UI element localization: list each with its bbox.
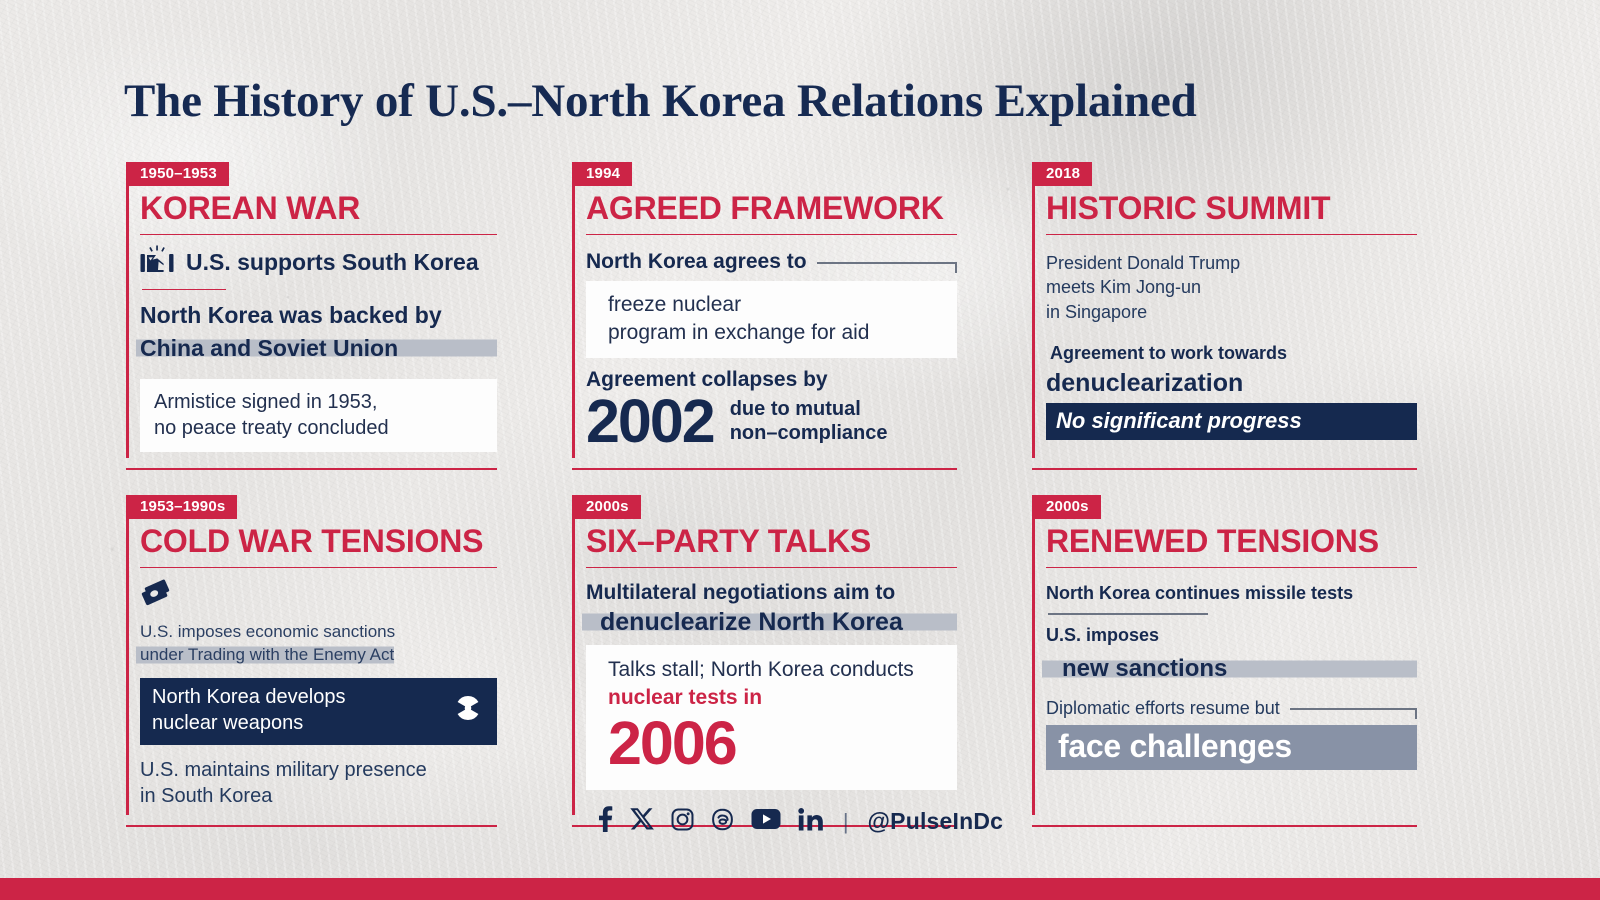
closing-line-2: in South Korea: [140, 783, 497, 809]
page-title: The History of U.S.–North Korea Relation…: [124, 74, 1197, 128]
card-cold-war-tensions: 1953–1990s COLD WAR TENSIONS U.S. impose…: [126, 495, 497, 828]
card-historic-summit: 2018 HISTORIC SUMMIT President Donald Tr…: [1032, 162, 1417, 472]
sanctions-line-1: U.S. imposes economic sanctions: [140, 621, 497, 643]
divider: [142, 289, 226, 290]
card-title: AGREED FRAMEWORK: [586, 192, 957, 226]
connector-line: [1290, 708, 1417, 709]
card-title: COLD WAR TENSIONS: [140, 525, 497, 559]
card-left-rule: [572, 172, 575, 458]
x-twitter-icon[interactable]: [630, 807, 654, 836]
radiation-icon: [451, 691, 485, 730]
handshake-icon: [140, 245, 174, 280]
card-bottom-rule: [126, 468, 497, 470]
card-title: RENEWED TENSIONS: [1046, 525, 1417, 559]
bottom-accent-bar: [0, 878, 1600, 900]
lead-label: Multilateral negotiations aim to: [586, 580, 957, 606]
card-left-rule: [572, 505, 575, 814]
card-renewed-tensions: 2000s RENEWED TENSIONS North Korea conti…: [1032, 495, 1417, 828]
linkedin-icon[interactable]: [798, 808, 824, 836]
callout-line-1: Talks stall; North Korea conducts: [608, 656, 945, 684]
social-handle[interactable]: @PulseInDc: [868, 808, 1004, 835]
white-callout: freeze nuclear program in exchange for a…: [586, 281, 957, 357]
card-badge-year: 2000s: [1032, 495, 1101, 519]
callout-line-2: no peace treaty concluded: [154, 415, 485, 441]
lead-label: North Korea agrees to: [586, 249, 807, 275]
card-agreed-framework: 1994 AGREED FRAMEWORK North Korea agrees…: [572, 162, 957, 472]
sanctions-line-2: under Trading with the Enemy Act: [140, 645, 394, 664]
agreement-key: denuclearization: [1046, 368, 1417, 399]
callout-red-line: nuclear tests in: [608, 684, 945, 712]
card-title: SIX–PARTY TALKS: [586, 525, 957, 559]
card-left-rule: [1032, 505, 1035, 814]
fact-line-3: Diplomatic efforts resume but: [1046, 697, 1280, 720]
connector-line: [817, 262, 957, 263]
key-phrase-wrap: denuclearize North Korea: [586, 607, 957, 638]
footer-social-bar: | @PulseInDc: [0, 806, 1600, 837]
highlight-wrap: new sanctions: [1046, 654, 1417, 684]
footer-separator: |: [843, 809, 849, 835]
threads-icon[interactable]: [711, 808, 734, 836]
infographic-root: The History of U.S.–North Korea Relation…: [0, 0, 1600, 900]
card-badge-year: 1953–1990s: [126, 495, 237, 519]
card-title: KOREAN WAR: [140, 192, 497, 226]
navy-line-2: nuclear weapons: [152, 711, 345, 737]
navy-line-1: North Korea develops: [152, 685, 345, 711]
white-callout: Armistice signed in 1953, no peace treat…: [140, 379, 497, 453]
callout-line-1: Armistice signed in 1953,: [154, 389, 485, 415]
card-badge-year: 1950–1953: [126, 162, 229, 186]
summary-paragraph: President Donald Trump meets Kim Jong-un…: [1046, 251, 1417, 324]
instagram-icon[interactable]: [671, 808, 694, 836]
card-badge-year: 2000s: [572, 495, 641, 519]
timeline-grid: 1950–1953 KOREAN WAR: [126, 162, 1474, 829]
fact-line-2: U.S. imposes: [1046, 624, 1417, 648]
sanctions-line-2-wrap: under Trading with the Enemy Act: [140, 644, 394, 666]
facebook-icon[interactable]: [597, 806, 613, 837]
summary-line-1: President Donald Trump: [1046, 251, 1417, 275]
card-bottom-rule: [572, 468, 957, 470]
fact-line-2: China and Soviet Union: [140, 335, 398, 361]
key-phrase: denuclearize North Korea: [600, 608, 903, 636]
summary-line-2: meets Kim Jong-un: [1046, 275, 1417, 299]
reason-line-1: due to mutual: [730, 398, 888, 422]
card-six-party-talks: 2000s SIX–PARTY TALKS Multilateral negot…: [572, 495, 957, 828]
result-banner: No significant progress: [1046, 403, 1417, 440]
card-badge-year: 1994: [572, 162, 632, 186]
reason-block: due to mutual non–compliance: [730, 398, 888, 445]
collapse-year: 2002: [586, 391, 714, 452]
diplomatic-row: Diplomatic efforts resume but: [1046, 697, 1417, 720]
card-left-rule: [1032, 172, 1035, 458]
white-callout: Talks stall; North Korea conducts nuclea…: [586, 645, 957, 790]
year-row: 2002 due to mutual non–compliance: [586, 391, 957, 452]
summary-line-3: in Singapore: [1046, 300, 1417, 324]
lead-row: North Korea agrees to: [586, 249, 957, 275]
card-left-rule: [126, 172, 129, 458]
fact-line-2-wrap: China and Soviet Union: [140, 334, 497, 363]
test-year: 2006: [608, 713, 945, 774]
fact-line-1: North Korea was backed by: [140, 301, 497, 330]
result-banner: face challenges: [1046, 725, 1417, 770]
icon-fact-label: U.S. supports South Korea: [186, 248, 479, 277]
callout-line-2: program in exchange for aid: [608, 319, 945, 347]
card-left-rule: [126, 505, 129, 814]
money-icon: [140, 578, 174, 613]
callout-line-1: freeze nuclear: [608, 291, 945, 319]
card-badge-year: 2018: [1032, 162, 1092, 186]
navy-callout: North Korea develops nuclear weapons: [140, 678, 497, 744]
fact-line-1: North Korea continues missile tests: [1046, 582, 1417, 606]
card-korean-war: 1950–1953 KOREAN WAR: [126, 162, 497, 472]
agreement-label: Agreement to work towards: [1046, 342, 1417, 366]
icon-fact-row: U.S. supports South Korea: [140, 245, 497, 280]
card-bottom-rule: [1032, 468, 1417, 470]
divider: [1048, 613, 1208, 615]
youtube-icon[interactable]: [751, 808, 781, 835]
closing-line-1: U.S. maintains military presence: [140, 757, 497, 783]
highlight-phrase: new sanctions: [1062, 655, 1227, 682]
reason-line-2: non–compliance: [730, 422, 888, 446]
card-title: HISTORIC SUMMIT: [1046, 192, 1417, 226]
navy-callout-text: North Korea develops nuclear weapons: [152, 685, 345, 736]
